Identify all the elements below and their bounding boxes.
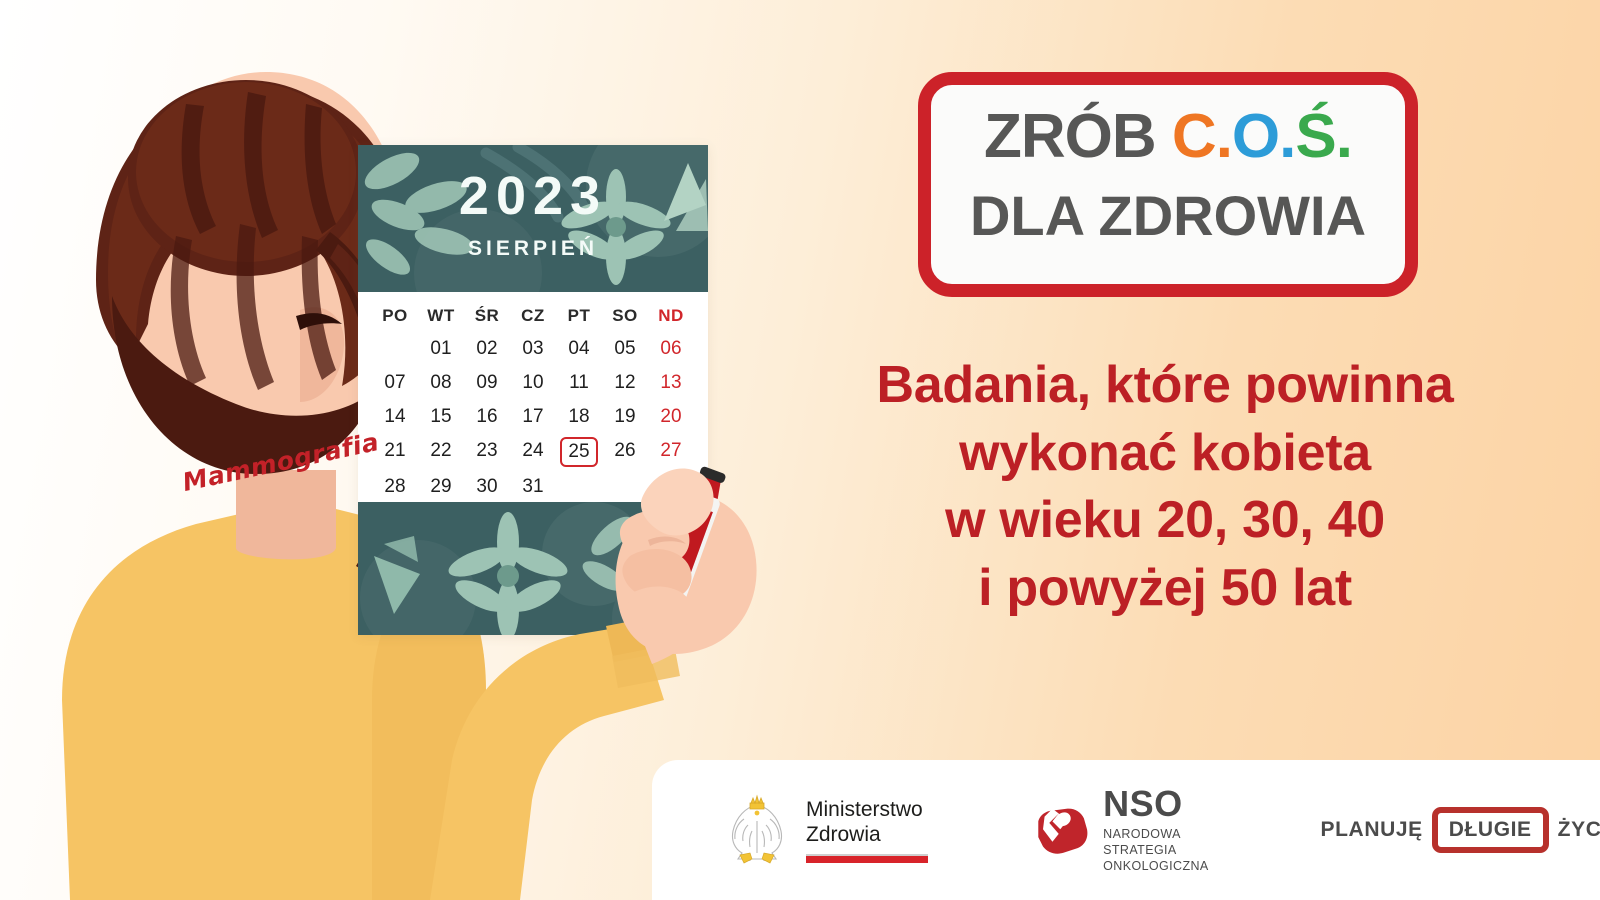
calendar-day-31: 31	[510, 476, 556, 498]
calendar-day-18: 18	[556, 406, 602, 428]
planuje-word-2: ŻYCIE	[1558, 818, 1600, 842]
calendar-weekday-so: SO	[602, 306, 648, 326]
calendar-day-08: 08	[418, 372, 464, 394]
calendar-body: POWTŚRCZPTSOND01020304050607080910111213…	[358, 292, 708, 502]
ministry-line-2: Zdrowia	[806, 822, 928, 847]
calendar-day-17: 17	[510, 406, 556, 428]
calendar-day-26: 26	[602, 440, 648, 464]
calendar-day-marker: 25	[560, 437, 597, 467]
calendar-day-02: 02	[464, 338, 510, 360]
headline-text: Badania, które powinnawykonać kobietaw w…	[800, 352, 1530, 622]
calendar-day-09: 09	[464, 372, 510, 394]
calendar-weekday-wt: WT	[418, 306, 464, 326]
calendar-footer-foliage	[358, 502, 708, 635]
logo-nso: NSO NARODOWA STRATEGIA ONKOLOGICZNA	[1032, 786, 1225, 875]
badge-word-zrob: ZRÓB	[984, 102, 1156, 171]
calendar-day-28: 28	[372, 476, 418, 498]
ministry-accent-bar	[806, 854, 928, 863]
calendar-year: 2023	[358, 169, 708, 223]
calendar-month: SIERPIEŃ	[358, 237, 708, 261]
calendar-day-16: 16	[464, 406, 510, 428]
nso-acronym: NSO	[1103, 786, 1224, 822]
badge-letter-o: O.	[1232, 102, 1295, 171]
calendar-weekday-po: PO	[372, 306, 418, 326]
calendar-day-06: 06	[648, 338, 694, 360]
calendar-day-19: 19	[602, 406, 648, 428]
calendar-header: 2023 SIERPIEŃ	[358, 145, 708, 292]
headline-line-1: Badania, które powinna	[800, 352, 1530, 420]
nso-text-block: NSO NARODOWA STRATEGIA ONKOLOGICZNA	[1103, 786, 1224, 875]
calendar-day-11: 11	[556, 372, 602, 394]
badge-line-1: ZRÓB C.O.Ś.	[931, 101, 1405, 172]
badge-letter-c: C.	[1172, 102, 1232, 171]
calendar-grid: POWTŚRCZPTSOND01020304050607080910111213…	[372, 292, 694, 498]
nso-subtitle-1: NARODOWA STRATEGIA	[1103, 826, 1224, 859]
planuje-word-1: PLANUJĘ	[1321, 818, 1423, 842]
ministry-line-1: Ministerstwo	[806, 797, 928, 822]
headline-line-2: wykonać kobieta	[800, 420, 1530, 488]
nso-subtitle-2: ONKOLOGICZNA	[1103, 858, 1224, 874]
planuje-boxed-label: DŁUGIE	[1449, 818, 1532, 841]
calendar-day-30: 30	[464, 476, 510, 498]
planuje-boxed-word: DŁUGIE	[1432, 807, 1549, 853]
footer-panel: Ministerstwo Zdrowia NSO NARODOWA STRATE…	[652, 760, 1600, 900]
calendar-weekday-cz: CZ	[510, 306, 556, 326]
calendar-day-29: 29	[418, 476, 464, 498]
ministry-text-block: Ministerstwo Zdrowia	[806, 797, 928, 863]
calendar-weekday-nd: ND	[648, 306, 694, 326]
campaign-badge: ZRÓB C.O.Ś. DLA ZDROWIA	[918, 72, 1418, 297]
logo-planuje-dlugie-zycie: PLANUJĘ DŁUGIE ŻYCIE	[1321, 807, 1600, 853]
poster-canvas: 2023 SIERPIEŃ POWTŚRCZPTSOND010203040506…	[0, 0, 1600, 900]
calendar-day-12: 12	[602, 372, 648, 394]
calendar-day-10: 10	[510, 372, 556, 394]
calendar-footer-band	[358, 502, 708, 635]
wall-calendar: 2023 SIERPIEŃ POWTŚRCZPTSOND010203040506…	[358, 145, 708, 635]
headline-line-3: w wieku 20, 30, 40	[800, 487, 1530, 555]
headline-line-4: i powyżej 50 lat	[800, 555, 1530, 623]
badge-letter-s: Ś.	[1295, 102, 1352, 171]
calendar-day-15: 15	[418, 406, 464, 428]
calendar-day-14: 14	[372, 406, 418, 428]
poland-map-ribbon-icon	[1032, 797, 1090, 863]
calendar-day-23: 23	[464, 440, 510, 464]
calendar-day-04: 04	[556, 338, 602, 360]
calendar-day-01: 01	[418, 338, 464, 360]
calendar-day-07: 07	[372, 372, 418, 394]
calendar-day-03: 03	[510, 338, 556, 360]
polish-eagle-icon	[720, 791, 794, 869]
calendar-day-05: 05	[602, 338, 648, 360]
calendar-weekday-śr: ŚR	[464, 306, 510, 326]
calendar-day-24: 24	[510, 440, 556, 464]
calendar-day-13: 13	[648, 372, 694, 394]
logo-ministry-of-health: Ministerstwo Zdrowia	[720, 791, 928, 869]
calendar-day-25: 25	[556, 440, 602, 464]
calendar-day-20: 20	[648, 406, 694, 428]
calendar-day-22: 22	[418, 440, 464, 464]
calendar-weekday-pt: PT	[556, 306, 602, 326]
calendar-day-27: 27	[648, 440, 694, 464]
badge-line-2: DLA ZDROWIA	[931, 183, 1405, 248]
